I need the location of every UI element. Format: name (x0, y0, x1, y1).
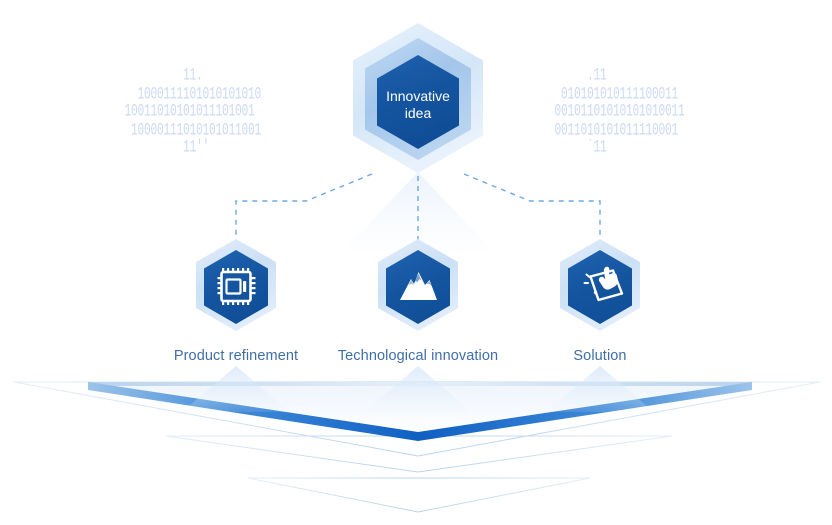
branch-hexagon-solution[interactable] (560, 239, 640, 331)
branch-hexagon-technological-innovation[interactable] (378, 239, 458, 331)
diagram-canvas: 11. 1000111101010101010 1001101010101110… (0, 0, 832, 525)
connector-left (236, 174, 372, 240)
branch-hexagon-product-refinement[interactable] (196, 239, 276, 331)
platform-outline-bottom (248, 478, 590, 512)
diagram-scene (0, 0, 832, 525)
center-hexagon-caption: Innovative idea (358, 88, 478, 122)
platform-outline-middle (166, 436, 672, 472)
platform-layer-middle (166, 436, 672, 472)
connector-right (464, 174, 600, 240)
node-label-solution: Solution (520, 348, 680, 364)
platform-layer-bottom (248, 478, 590, 512)
node-label-product-refinement: Product refinement (136, 348, 336, 364)
node-label-technological-innovation: Technological innovation (308, 348, 528, 364)
